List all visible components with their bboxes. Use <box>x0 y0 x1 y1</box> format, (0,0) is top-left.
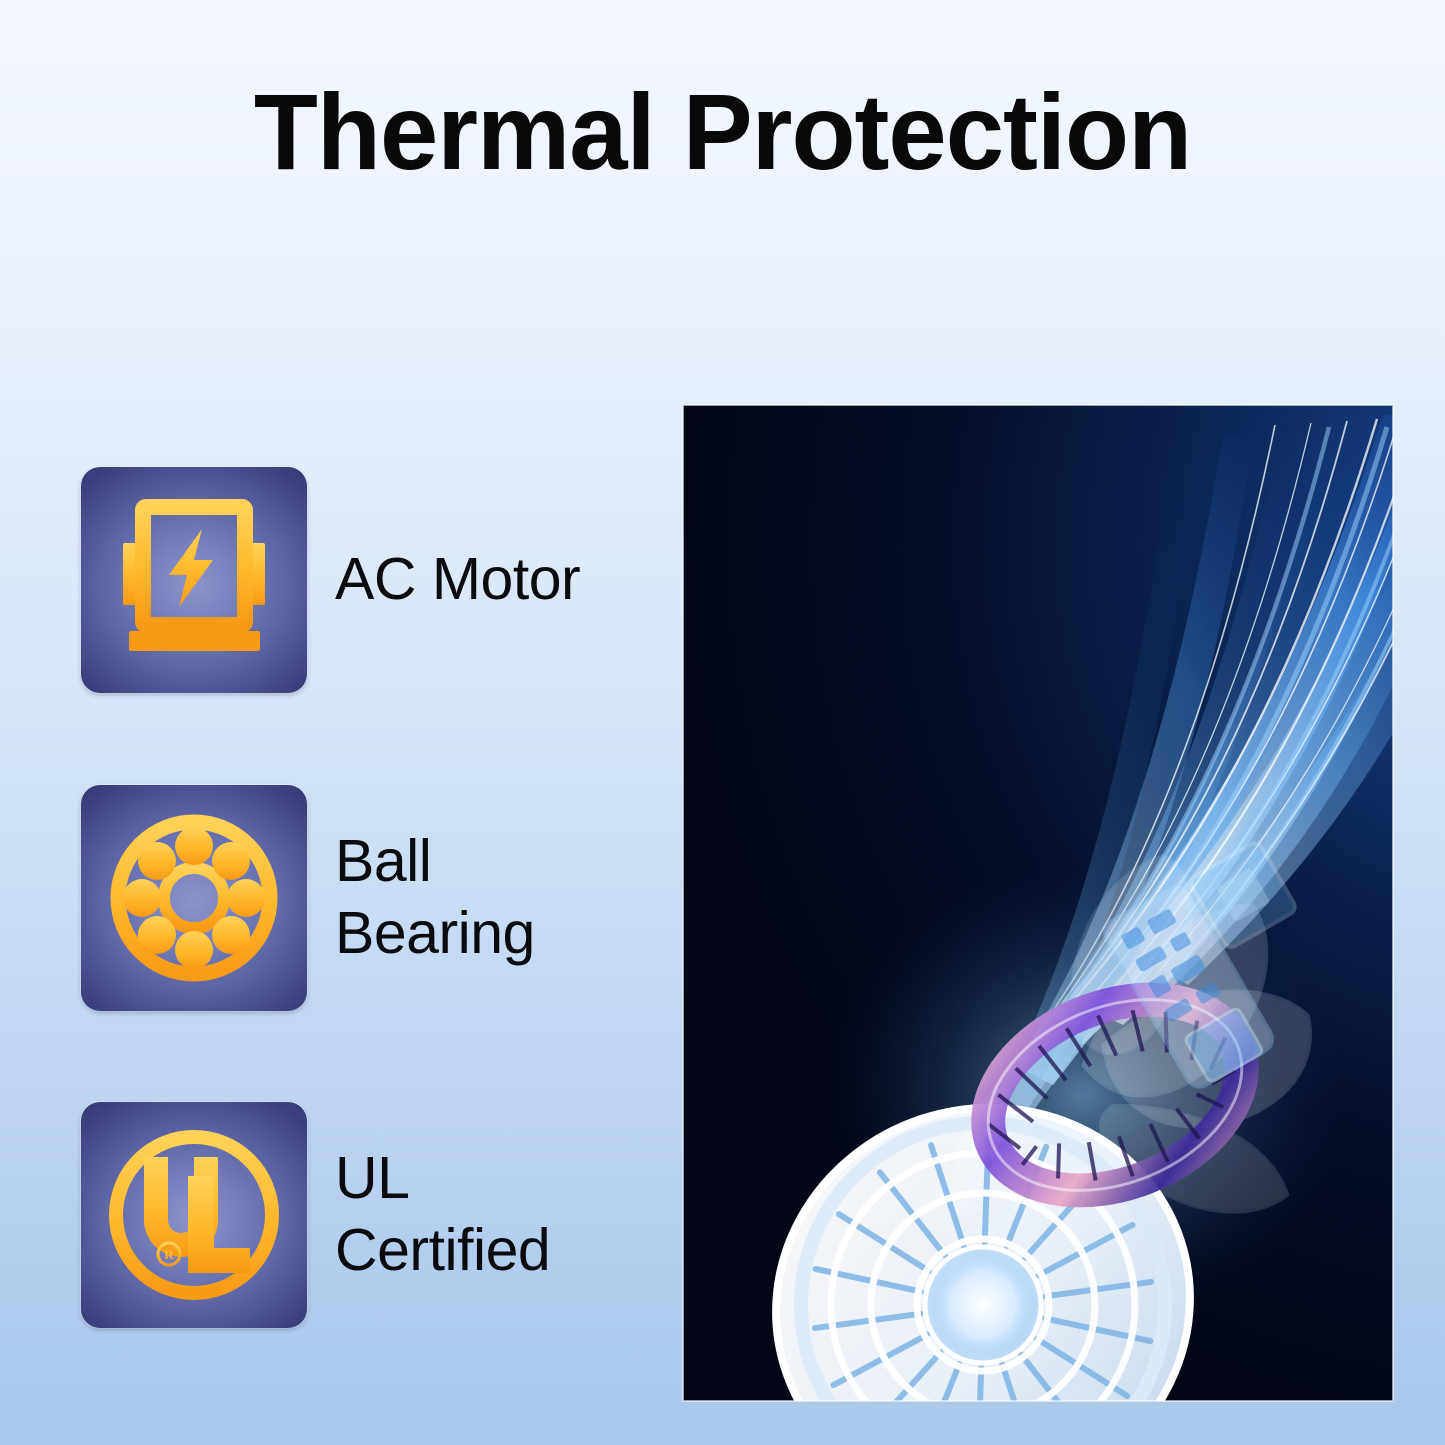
product-image <box>683 405 1393 1401</box>
ul-certified-icon-tile: R <box>81 1102 307 1328</box>
feature-label-ball-bearing: Ball Bearing <box>335 826 535 970</box>
ball-bearing-icon <box>81 785 307 1011</box>
feature-item-ul-certified[interactable]: R UL Certified <box>81 1102 550 1328</box>
svg-text:R: R <box>164 1247 174 1262</box>
product-image-content <box>683 405 1393 1401</box>
fan-motor-illustration <box>683 405 1393 1401</box>
feature-label-ul-certified: UL Certified <box>335 1143 550 1287</box>
ul-certified-icon: R <box>81 1102 307 1328</box>
ball-bearing-icon-tile <box>81 785 307 1011</box>
ac-motor-icon-tile <box>81 467 307 693</box>
ac-motor-icon <box>81 467 307 693</box>
page-title: Thermal Protection <box>22 78 1424 186</box>
feature-label-ac-motor: AC Motor <box>335 544 580 616</box>
feature-item-ball-bearing[interactable]: Ball Bearing <box>81 785 535 1011</box>
feature-item-ac-motor[interactable]: AC Motor <box>81 467 580 693</box>
